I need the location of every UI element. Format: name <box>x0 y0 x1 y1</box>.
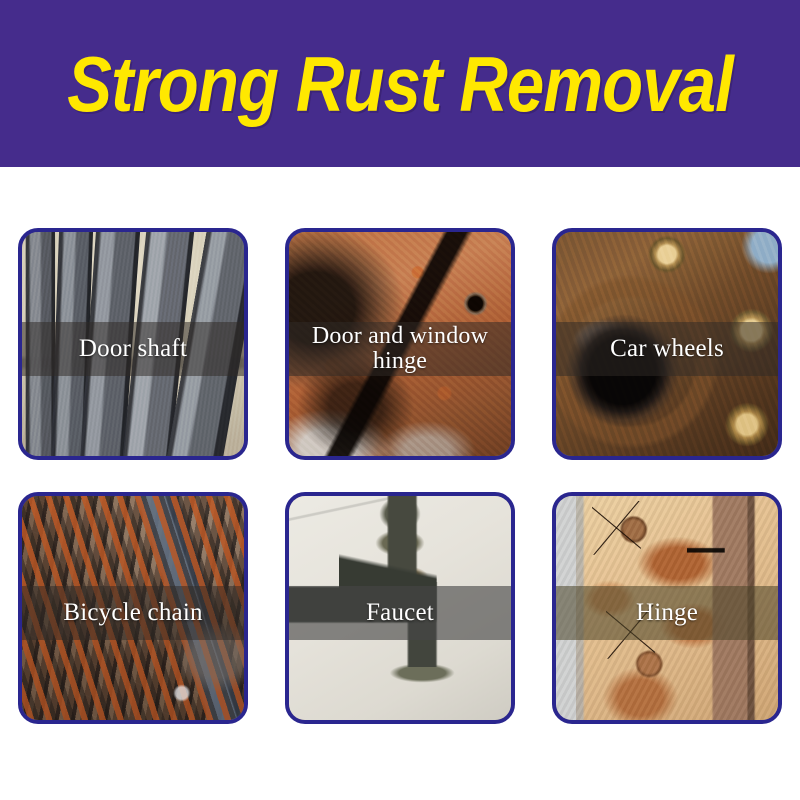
label-band: Hinge <box>556 586 778 640</box>
card-label: Door and windowhinge <box>306 324 494 374</box>
use-case-card-faucet[interactable]: Faucet <box>285 492 515 724</box>
card-label: Hinge <box>630 600 704 626</box>
use-case-card-door-shaft[interactable]: Door shaft <box>18 228 248 460</box>
header-banner: Strong Rust Removal <box>0 0 800 167</box>
card-label: Faucet <box>360 600 440 626</box>
label-band: Bicycle chain <box>22 586 244 640</box>
card-label-line2: hinge <box>373 348 427 374</box>
label-band: Car wheels <box>556 322 778 376</box>
use-case-card-door-window-hinge[interactable]: Door and windowhinge <box>285 228 515 460</box>
card-label-line1: Door and window <box>312 323 488 349</box>
card-label: Door shaft <box>73 336 193 362</box>
card-label: Bicycle chain <box>57 600 208 626</box>
page-title: Strong Rust Removal <box>67 44 733 124</box>
card-label: Car wheels <box>604 336 730 362</box>
label-band: Faucet <box>289 586 511 640</box>
use-case-card-bicycle-chain[interactable]: Bicycle chain <box>18 492 248 724</box>
label-band: Door shaft <box>22 322 244 376</box>
use-case-card-hinge[interactable]: Hinge <box>552 492 782 724</box>
use-case-card-car-wheels[interactable]: Car wheels <box>552 228 782 460</box>
use-case-grid: Door shaft Door and windowhinge Car whee… <box>18 228 782 724</box>
label-band: Door and windowhinge <box>289 322 511 376</box>
product-infographic: Strong Rust Removal Door shaft Door and … <box>0 0 800 800</box>
